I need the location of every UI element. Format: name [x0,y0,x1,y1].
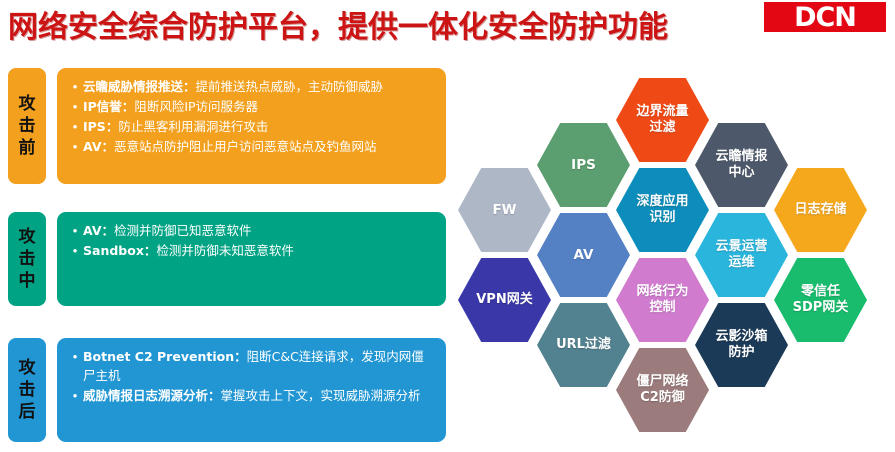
bullet-term: Sandbox： [83,243,156,258]
dcn-logo: DCN [764,2,886,32]
stage-bullet: •IPS：防止黑客利用漏洞进行攻击 [67,117,436,136]
bullet-dot-icon: • [67,386,83,405]
hex-label: 边界流量过滤 [631,104,695,136]
bullet-description: 恶意站点防护阻止用户访问恶意站点及钓鱼网站 [114,139,377,154]
stage-bullet: •威胁情报日志溯源分析：掌握攻击上下文，实现威胁溯源分析 [67,386,436,405]
bullet-description: 掌握攻击上下文，实现威胁溯源分析 [221,388,421,403]
bullet-description: 阻断风险IP访问服务器 [134,99,258,114]
stage-body-mid: •AV：检测并防御已知恶意软件•Sandbox：检测并防御未知恶意软件 [57,212,446,306]
bullet-text: IPS：防止黑客利用漏洞进行攻击 [83,117,436,136]
stage-tab-char: 击 [19,248,36,270]
attack-stage-mid: 攻击中•AV：检测并防御已知恶意软件•Sandbox：检测并防御未知恶意软件 [0,212,450,306]
bullet-dot-icon: • [67,97,83,116]
hex-vpn[interactable]: VPN网关 [458,258,551,342]
stage-tab-char: 攻 [19,93,36,115]
stage-tab-post[interactable]: 攻击后 [8,338,46,442]
stage-bullet: •Botnet C2 Prevention：阻断C&C连接请求，发现内网僵尸主机 [67,347,436,385]
hex-label: URL过滤 [552,337,616,353]
stage-tab-char: 后 [19,401,36,423]
bullet-dot-icon: • [67,347,83,366]
bullet-description: 检测并防御未知恶意软件 [156,243,294,258]
stage-tab-char: 击 [19,379,36,401]
bullet-description: 检测并防御已知恶意软件 [114,223,252,238]
stage-tab-pre[interactable]: 攻击前 [8,68,46,184]
bullet-text: 云瞻威胁情报推送：提前推送热点威胁，主动防御威胁 [83,77,436,96]
hex-cloudops[interactable]: 云景运营运维 [695,213,788,297]
stage-body-pre: •云瞻威胁情报推送：提前推送热点威胁，主动防御威胁•IP信誉：阻断风险IP访问服… [57,68,446,184]
hex-label: VPN网关 [473,292,537,308]
hex-label: 网络行为控制 [631,284,695,316]
bullet-term: 威胁情报日志溯源分析： [83,388,221,403]
slide-root: 网络安全综合防护平台，提供一体化安全防护功能 DCN 攻击前•云瞻威胁情报推送：… [0,0,895,452]
stage-tab-char: 攻 [19,357,36,379]
stage-bullet: •Sandbox：检测并防御未知恶意软件 [67,241,436,260]
hex-label: FW [473,202,537,218]
bullet-dot-icon: • [67,241,83,260]
stage-body-post: •Botnet C2 Prevention：阻断C&C连接请求，发现内网僵尸主机… [57,338,446,442]
bullet-dot-icon: • [67,221,83,240]
stage-bullet: •AV：检测并防御已知恶意软件 [67,221,436,240]
stage-tab-mid[interactable]: 攻击中 [8,212,46,306]
bullet-description: 提前推送热点威胁，主动防御威胁 [196,79,384,94]
hex-label: 云瞻情报中心 [710,149,774,181]
stage-tab-char: 攻 [19,226,36,248]
hex-ips[interactable]: IPS [537,123,630,207]
hex-netctl[interactable]: 网络行为控制 [616,258,709,342]
bullet-dot-icon: • [67,117,83,136]
hex-fw[interactable]: FW [458,168,551,252]
stage-bullet: •云瞻威胁情报推送：提前推送热点威胁，主动防御威胁 [67,77,436,96]
bullet-term: 云瞻威胁情报推送： [83,79,196,94]
slide-header: 网络安全综合防护平台，提供一体化安全防护功能 DCN [0,0,895,52]
bullet-text: AV：恶意站点防护阻止用户访问恶意站点及钓鱼网站 [83,137,436,156]
bullet-text: IP信誉：阻断风险IP访问服务器 [83,97,436,116]
bullet-description: 防止黑客利用漏洞进行攻击 [118,119,268,134]
hex-dpi[interactable]: 深度应用识别 [616,168,709,252]
dcn-logo-text: DCN [794,4,856,31]
bullet-term: AV： [83,223,114,238]
stage-bullet: •IP信誉：阻断风险IP访问服务器 [67,97,436,116]
bullet-text: Sandbox：检测并防御未知恶意软件 [83,241,436,260]
hex-ztsdp[interactable]: 零信任SDP网关 [774,258,867,342]
hex-logstore[interactable]: 日志存储 [774,168,867,252]
hex-label: 日志存储 [789,202,853,218]
bullet-dot-icon: • [67,77,83,96]
bullet-text: Botnet C2 Prevention：阻断C&C连接请求，发现内网僵尸主机 [83,347,436,385]
stage-tab-char: 前 [19,137,36,159]
page-title: 网络安全综合防护平台，提供一体化安全防护功能 [8,2,668,46]
bullet-term: IP信誉： [83,99,134,114]
bullet-term: IPS： [83,119,118,134]
bullet-text: AV：检测并防御已知恶意软件 [83,221,436,240]
hex-sandbox[interactable]: 云影沙箱防护 [695,303,788,387]
bullet-dot-icon: • [67,137,83,156]
stage-tab-char: 中 [19,270,36,292]
attack-stage-post: 攻击后•Botnet C2 Prevention：阻断C&C连接请求，发现内网僵… [0,338,450,442]
stage-bullet: •AV：恶意站点防护阻止用户访问恶意站点及钓鱼网站 [67,137,436,156]
hex-label: 云景运营运维 [710,239,774,271]
bullet-term: AV： [83,139,114,154]
hex-label: 零信任SDP网关 [789,284,853,316]
hex-label: 云影沙箱防护 [710,329,774,361]
hex-av[interactable]: AV [537,213,630,297]
hex-cloudintel[interactable]: 云瞻情报中心 [695,123,788,207]
hex-label: 僵尸网络C2防御 [631,374,695,406]
hex-botnet[interactable]: 僵尸网络C2防御 [616,348,709,432]
hex-label: 深度应用识别 [631,194,695,226]
stage-tab-char: 击 [19,115,36,137]
attack-stage-pre: 攻击前•云瞻威胁情报推送：提前推送热点威胁，主动防御威胁•IP信誉：阻断风险IP… [0,68,450,184]
hex-label: IPS [552,157,616,173]
hex-border[interactable]: 边界流量过滤 [616,78,709,162]
bullet-term: Botnet C2 Prevention： [83,349,247,364]
hex-url[interactable]: URL过滤 [537,303,630,387]
hex-label: AV [552,247,616,263]
bullet-text: 威胁情报日志溯源分析：掌握攻击上下文，实现威胁溯源分析 [83,386,436,405]
capability-hex-cluster: FWIPSAVVPN网关URL过滤边界流量过滤深度应用识别网络行为控制僵尸网络C… [450,52,895,452]
